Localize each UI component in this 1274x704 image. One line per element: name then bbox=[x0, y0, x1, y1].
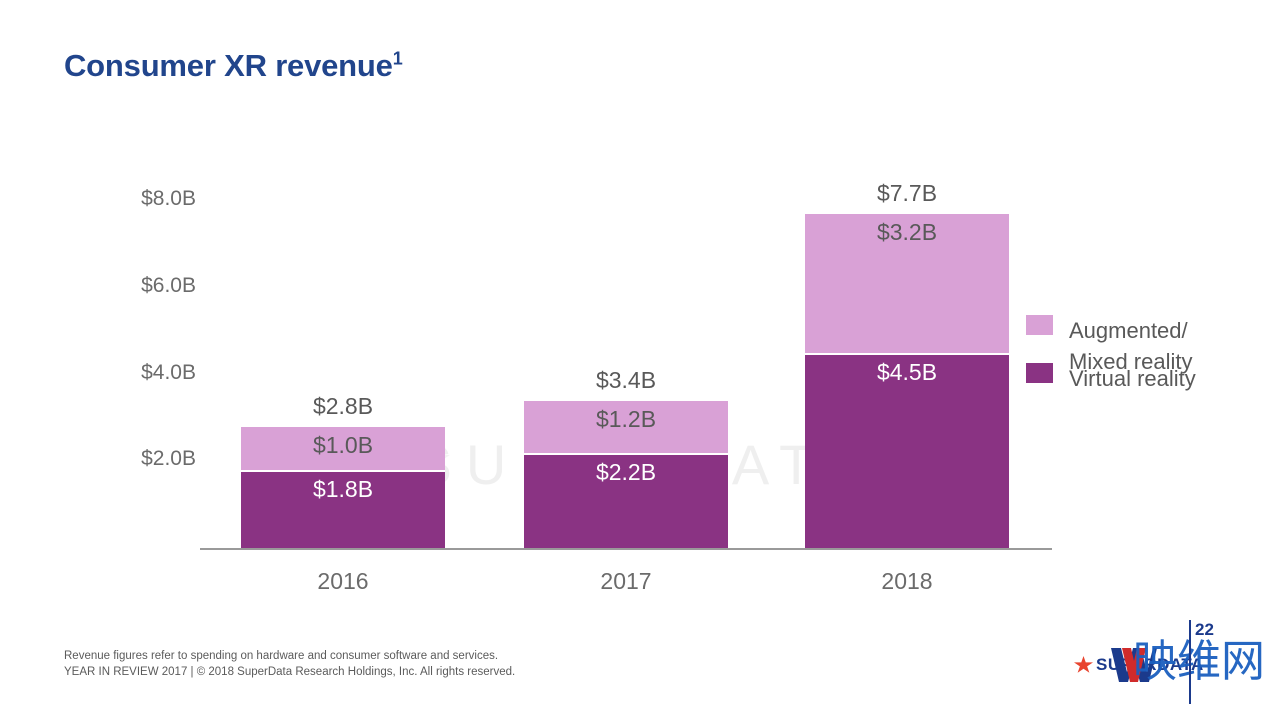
chinese-site-watermark: 映维网 bbox=[1133, 640, 1265, 684]
y-axis-tick-label: $4.0B bbox=[110, 361, 196, 385]
legend-swatch-icon bbox=[1026, 315, 1053, 335]
bar-value-label-augmented-mixed-reality: $3.2B bbox=[805, 219, 1009, 246]
bar-value-label-augmented-mixed-reality: $1.0B bbox=[241, 432, 445, 459]
footnotes: Revenue figures refer to spending on har… bbox=[64, 648, 515, 680]
page-number-rule bbox=[1189, 620, 1191, 704]
star-icon bbox=[1074, 656, 1093, 674]
bar-total-label-2018: $7.7B bbox=[805, 180, 1009, 207]
bar-total-label-2017: $3.4B bbox=[524, 367, 728, 394]
legend-item-label: Virtual reality bbox=[1069, 363, 1196, 394]
bar-total-label-2016: $2.8B bbox=[241, 393, 445, 420]
footnote-line-1: Revenue figures refer to spending on har… bbox=[64, 648, 515, 664]
y-axis-tick-label: $2.0B bbox=[110, 447, 196, 471]
bar-group-2018[interactable]: $3.2B$4.5B bbox=[805, 214, 1009, 548]
y-axis-tick-label: $6.0B bbox=[110, 274, 196, 298]
page-number: 22 bbox=[1195, 620, 1214, 640]
x-axis-label-2016: 2016 bbox=[241, 568, 445, 595]
legend-item-virtual-reality[interactable]: Virtual reality bbox=[1026, 363, 1196, 394]
bar-group-2016[interactable]: $1.0B$1.8B bbox=[241, 427, 445, 548]
legend-swatch-icon bbox=[1026, 363, 1053, 383]
footnote-line-2: YEAR IN REVIEW 2017 | © 2018 SuperData R… bbox=[64, 664, 515, 680]
bar-value-label-virtual-reality: $2.2B bbox=[524, 459, 728, 486]
x-axis-label-2017: 2017 bbox=[524, 568, 728, 595]
y-axis-tick-label: $8.0B bbox=[110, 187, 196, 211]
bar-group-2017[interactable]: $1.2B$2.2B bbox=[524, 401, 728, 548]
chart: SUPERDATA $2.0B$4.0B$6.0B$8.0B $1.0B$1.8… bbox=[0, 0, 1274, 704]
bar-value-label-virtual-reality: $4.5B bbox=[805, 359, 1009, 386]
x-axis-label-2018: 2018 bbox=[805, 568, 1009, 595]
x-axis-line bbox=[200, 548, 1052, 550]
bar-value-label-virtual-reality: $1.8B bbox=[241, 476, 445, 503]
bar-value-label-augmented-mixed-reality: $1.2B bbox=[524, 406, 728, 433]
